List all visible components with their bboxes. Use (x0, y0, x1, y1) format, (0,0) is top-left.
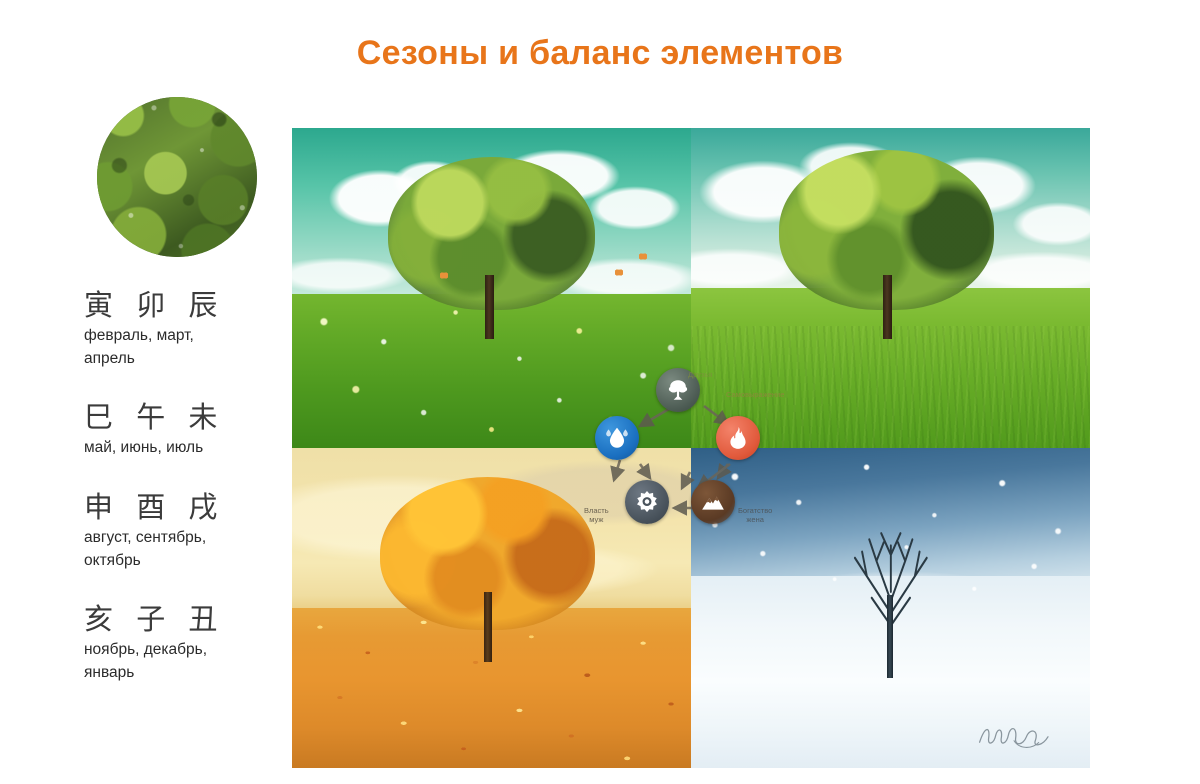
season-photo-summer (691, 128, 1090, 448)
summer-tree-trunk (883, 275, 892, 339)
legend-months-spring: февраль, март, апрель (84, 325, 274, 370)
summer-grass-texture (691, 326, 1090, 448)
legend-hanzi-spring: 寅 卯 辰 (84, 288, 274, 322)
legend-item-autumn: 申 酉 戌 август, сентябрь, октябрь (84, 490, 274, 572)
season-photo-spring (292, 128, 691, 448)
slide-root: Сезоны и баланс элементов 寅 卯 辰 февраль,… (0, 0, 1200, 784)
legend-months-winter: ноябрь, декабрь, январь (84, 639, 274, 684)
tree-foliage-circle-photo (97, 97, 257, 257)
autumn-tree-trunk (484, 592, 493, 662)
legend-hanzi-summer: 巳 午 未 (84, 400, 274, 434)
legend-item-spring: 寅 卯 辰 февраль, март, апрель (84, 288, 274, 370)
butterfly-icon (440, 272, 448, 279)
legend-months-summer: май, июнь, июль (84, 437, 274, 459)
season-photo-winter (691, 448, 1090, 768)
legend-months-autumn: август, сентябрь, октябрь (84, 527, 274, 572)
page-title: Сезоны и баланс элементов (0, 34, 1200, 73)
butterfly-icon (615, 269, 623, 276)
seasons-legend: 寅 卯 辰 февраль, март, апрель 巳 午 未 май, и… (84, 288, 274, 684)
photographer-signature (976, 718, 1066, 752)
butterfly-icon (639, 253, 647, 260)
legend-item-summer: 巳 午 未 май, июнь, июль (84, 400, 274, 460)
legend-hanzi-winter: 亥 子 丑 (84, 602, 274, 636)
legend-item-winter: 亥 子 丑 ноябрь, декабрь, январь (84, 602, 274, 684)
spring-tree-trunk (485, 275, 495, 339)
winter-tree-trunk (887, 595, 893, 678)
seasons-photo-grid (292, 128, 1090, 768)
legend-hanzi-autumn: 申 酉 戌 (84, 490, 274, 524)
foliage-detail-layer (97, 97, 257, 257)
season-photo-autumn (292, 448, 691, 768)
